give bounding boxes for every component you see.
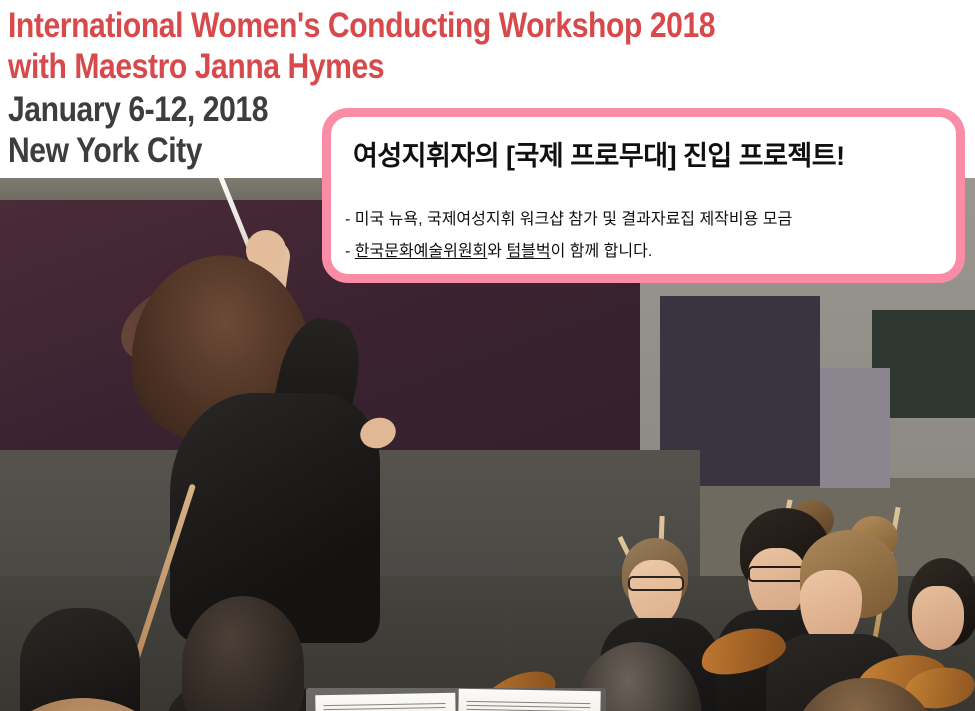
bullet-text: 미국 뉴욕, 국제여성지휘 워크샵 참가 및 결과자료집 제작비용 모금 <box>355 211 792 228</box>
partner-link-arts-council[interactable]: 한국문화예술위원회 <box>355 243 487 260</box>
event-location: New York City <box>8 133 202 168</box>
eyeglasses-icon <box>628 576 684 591</box>
bullet-marker: - <box>345 243 355 260</box>
bullet-text-mid: 와 <box>487 243 506 260</box>
foreground-musician-body <box>20 608 140 711</box>
bullet-text-suffix: 이 함께 합니다. <box>551 243 653 260</box>
callout-box: 여성지휘자의 [국제 프로무대] 진입 프로젝트! - 미국 뉴욕, 국제여성지… <box>322 108 965 283</box>
page-title-line-2: with Maestro Janna Hymes <box>8 49 384 84</box>
callout-bullet-1: - 미국 뉴욕, 국제여성지휘 워크샵 참가 및 결과자료집 제작비용 모금 <box>345 205 792 229</box>
callout-heading: 여성지휘자의 [국제 프로무대] 진입 프로젝트! <box>353 134 845 173</box>
event-dates: January 6-12, 2018 <box>8 92 268 127</box>
wall-gray-panel-c <box>820 368 890 488</box>
callout-bullet-2: - 한국문화예술위원회와 텀블벅이 함께 합니다. <box>345 237 652 261</box>
musician-face <box>912 586 964 650</box>
sheet-music <box>457 689 600 711</box>
page-title-line-1: International Women's Conducting Worksho… <box>8 8 715 43</box>
poster-image: International Women's Conducting Worksho… <box>0 0 975 711</box>
bullet-marker: - <box>345 211 355 228</box>
partner-link-tumblbug[interactable]: 텀블벅 <box>506 243 550 260</box>
eyeglasses-icon <box>748 566 808 582</box>
sheet-music <box>315 693 456 711</box>
